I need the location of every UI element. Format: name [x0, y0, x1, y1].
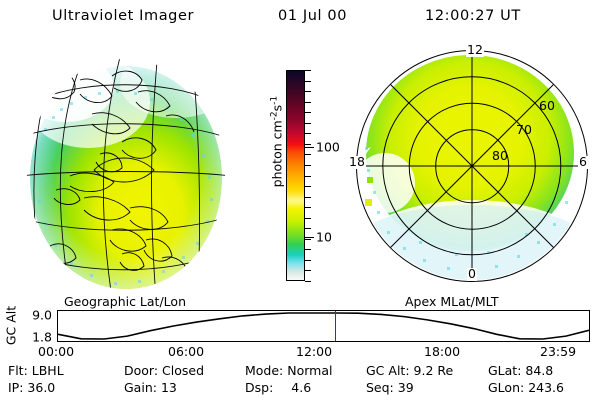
- orbit-xtick-0: 00:00: [38, 344, 74, 359]
- status-glon-label: GLon:: [488, 380, 524, 395]
- colorbar-group: photon cm-2s-1 10010: [258, 62, 316, 290]
- colorbar-minor-tick: [305, 270, 311, 271]
- colorbar-minor-tick: [305, 165, 311, 166]
- mlat-label-60: 60: [539, 100, 555, 113]
- status-ip-label: IP:: [8, 380, 23, 395]
- colorbar-axis-label: photon cm-2s-1: [269, 72, 284, 212]
- mlt-label-18: 18: [348, 156, 366, 169]
- colorbar-minor-tick: [305, 218, 311, 219]
- mlat-label-70: 70: [516, 124, 532, 137]
- colorbar-minor-tick: [305, 102, 311, 103]
- status-seq: Seq: 39: [366, 380, 414, 395]
- status-flt-value: LBHL: [32, 363, 64, 378]
- status-dsp: Dsp: 4.6: [245, 380, 311, 395]
- colorbar-minor-tick: [305, 207, 311, 208]
- colorbar-major-tick: [305, 237, 314, 238]
- mlt-label-0: 0: [467, 268, 477, 281]
- observation-time: 12:00:27 UT: [425, 8, 521, 24]
- colorbar-minor-tick: [305, 123, 311, 124]
- colorbar-minor-tick: [305, 260, 311, 261]
- apex-panel-caption: Apex MLat/MLT: [405, 294, 499, 309]
- status-gcalt-label: GC Alt:: [366, 363, 410, 378]
- colorbar-tick-label: 10: [316, 229, 332, 244]
- orbit-xtick-3: 18:00: [424, 344, 460, 359]
- colorbar-minor-tick: [305, 91, 311, 92]
- colorbar-label-exp2: -1: [269, 96, 279, 105]
- status-door: Door: Closed: [124, 363, 204, 378]
- colorbar-major-tick: [305, 147, 314, 148]
- status-door-label: Door:: [124, 363, 158, 378]
- status-mode: Mode: Normal: [245, 363, 333, 378]
- status-door-value: Closed: [162, 363, 204, 378]
- orbit-altitude-plot: GC Alt 9.0 1.8 00:00 06:00 12:00 18:00 2…: [0, 308, 600, 358]
- status-block: Flt: LBHL Door: Closed Mode: Normal GC A…: [0, 362, 600, 398]
- colorbar-minor-tick: [305, 154, 311, 155]
- status-gain-label: Gain:: [124, 380, 157, 395]
- orbit-xtick-1: 06:00: [168, 344, 204, 359]
- orbit-ytick-low: 1.8: [20, 330, 52, 345]
- observation-date: 01 Jul 00: [278, 8, 347, 24]
- colorbar-minor-tick: [305, 70, 311, 71]
- colorbar-minor-tick: [305, 144, 311, 145]
- status-flt-label: Flt:: [8, 363, 28, 378]
- apex-aurora-image: [356, 50, 588, 282]
- geographic-panel: [8, 44, 253, 294]
- status-glon-value: 243.6: [528, 380, 564, 395]
- colorbar-label-exp1: -2: [269, 111, 279, 120]
- orbit-altitude-trace: [58, 311, 589, 341]
- colorbar-minor-tick: [305, 249, 311, 250]
- header-bar: Ultraviolet Imager 01 Jul 00 12:00:27 UT: [0, 6, 600, 30]
- status-mode-value: Normal: [287, 363, 332, 378]
- orbit-xtick-4: 23:59: [540, 344, 576, 359]
- colorbar-minor-tick: [305, 133, 311, 134]
- status-ip: IP: 36.0: [8, 380, 55, 395]
- status-flt: Flt: LBHL: [8, 363, 64, 378]
- status-glat-label: GLat:: [488, 363, 521, 378]
- colorbar-label-mid: s: [270, 105, 285, 112]
- apex-panel: 12 6 0 18 60 70 80: [348, 42, 598, 294]
- geographic-panel-caption: Geographic Lat/Lon: [64, 294, 186, 309]
- page-title: Ultraviolet Imager: [52, 8, 194, 24]
- colorbar-minor-tick: [305, 186, 311, 187]
- status-ip-value: 36.0: [27, 380, 55, 395]
- geographic-aurora-svg: [26, 58, 226, 290]
- status-gain: Gain: 13: [124, 380, 177, 395]
- colorbar-minor-tick: [305, 81, 311, 82]
- orbit-plot-area[interactable]: [57, 310, 590, 342]
- mlt-label-6: 6: [578, 156, 588, 169]
- colorbar-minor-tick: [305, 281, 311, 282]
- status-glon: GLon: 243.6: [488, 380, 564, 395]
- mlt-label-12: 12: [466, 44, 484, 57]
- status-seq-label: Seq:: [366, 380, 394, 395]
- colorbar-minor-tick: [305, 112, 311, 113]
- status-gcalt: GC Alt: 9.2 Re: [366, 363, 453, 378]
- colorbar-minor-tick: [305, 176, 311, 177]
- status-gcalt-value: 9.2 Re: [414, 363, 454, 378]
- status-seq-value: 39: [398, 380, 414, 395]
- colorbar-minor-tick: [305, 228, 311, 229]
- status-gain-value: 13: [161, 380, 177, 395]
- orbit-ytick-high: 9.0: [20, 308, 52, 323]
- orbit-xtick-2: 12:00: [296, 344, 332, 359]
- geographic-aurora-image: [26, 58, 226, 290]
- colorbar-minor-tick: [305, 239, 311, 240]
- colorbar-tick-label: 100: [316, 140, 340, 155]
- status-dsp-value: 4.6: [291, 380, 311, 395]
- mlat-label-80: 80: [492, 150, 508, 163]
- status-glat: GLat: 84.8: [488, 363, 553, 378]
- status-dsp-label: Dsp:: [245, 380, 273, 395]
- colorbar-minor-tick: [305, 197, 311, 198]
- colorbar-label-main: photon cm: [270, 120, 285, 187]
- time-cursor[interactable]: [335, 311, 336, 341]
- status-glat-value: 84.8: [525, 363, 553, 378]
- colorbar-gradient: [286, 70, 305, 281]
- status-mode-label: Mode:: [245, 363, 283, 378]
- orbit-y-axis-label: GC Alt: [4, 303, 19, 349]
